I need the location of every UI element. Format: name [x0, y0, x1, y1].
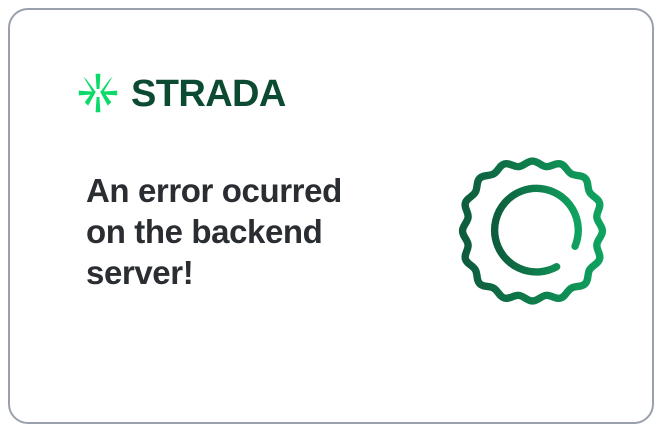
- brand-wordmark: STRADA: [131, 75, 286, 113]
- error-message: An error ocurred on the backend server!: [86, 170, 386, 293]
- gear-loading-icon: [454, 149, 618, 313]
- brand-logo: STRADA: [78, 73, 286, 113]
- strada-asterisk-icon: [78, 73, 118, 113]
- error-card: STRADA An error ocurred on the backend s…: [8, 8, 654, 424]
